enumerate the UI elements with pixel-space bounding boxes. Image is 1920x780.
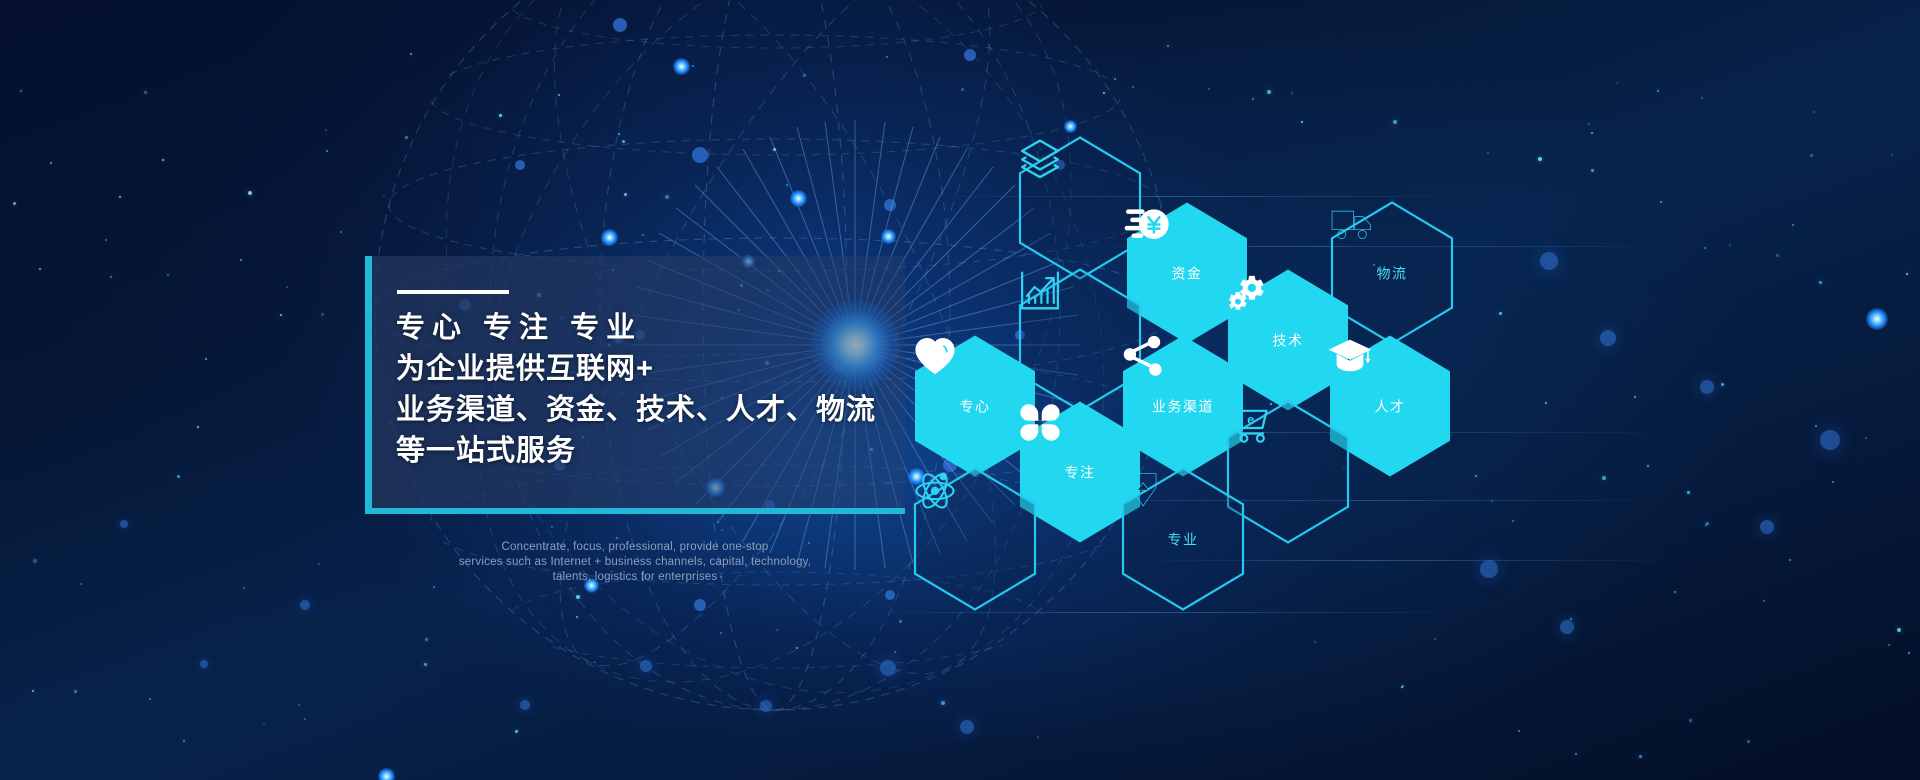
yen-money-icon xyxy=(1125,202,1169,246)
light-streak xyxy=(930,196,1470,197)
truck-icon xyxy=(1330,202,1374,246)
layers-icon xyxy=(1018,137,1062,181)
particle-dot xyxy=(961,88,964,91)
particle-dot xyxy=(280,314,282,316)
particle-dot xyxy=(692,65,694,67)
hex-label-dedication: 专注 xyxy=(1065,462,1096,482)
particle-dot xyxy=(1891,154,1893,156)
particle-dot xyxy=(240,259,242,261)
particle-orb xyxy=(1760,520,1774,534)
particle-dot xyxy=(803,74,806,77)
particle-dot xyxy=(1208,88,1210,90)
hex-label-focus: 专心 xyxy=(960,396,991,416)
banner-stage: 专心 专注 专业 为企业提供互联网+ 业务渠道、资金、技术、人才、物流 等一站式… xyxy=(0,0,1920,780)
particle-dot xyxy=(1674,591,1676,593)
particle-dot xyxy=(110,276,112,278)
particle-dot xyxy=(263,723,265,725)
headline-line-1: 专心 专注 专业 xyxy=(396,308,896,349)
particle-dot xyxy=(149,698,151,700)
particle-dot xyxy=(424,663,427,666)
particle-dot xyxy=(642,234,644,236)
particle-dot xyxy=(304,718,306,720)
particle-dot xyxy=(167,274,169,276)
particle-dot xyxy=(20,90,22,92)
particle-dot xyxy=(425,638,428,641)
particle-dot xyxy=(1591,132,1593,134)
particle-dot xyxy=(183,740,185,742)
particle-dot xyxy=(1706,522,1709,525)
particle-dot xyxy=(410,53,412,55)
cart-e-icon: e xyxy=(1226,401,1270,445)
glow-node xyxy=(881,229,896,244)
particle-dot xyxy=(13,202,16,205)
particle-dot xyxy=(1701,97,1703,99)
particle-dot xyxy=(796,647,798,649)
particle-dot xyxy=(1689,719,1692,722)
particle-dot xyxy=(1865,437,1867,439)
particle-dot xyxy=(33,559,37,563)
particle-dot xyxy=(1832,481,1834,483)
particle-dot xyxy=(622,140,625,143)
particle-dot xyxy=(616,537,618,539)
particle-dot xyxy=(1545,402,1547,404)
particle-orb xyxy=(1480,560,1498,578)
particle-dot xyxy=(1538,157,1542,161)
particle-dot xyxy=(515,730,518,733)
particle-dot xyxy=(1393,120,1397,124)
particle-orb xyxy=(960,720,974,734)
particle-dot xyxy=(1252,98,1254,100)
particle-dot xyxy=(383,195,385,197)
particle-orb xyxy=(1560,620,1574,634)
diamond-icon xyxy=(1121,468,1165,512)
particle-orb xyxy=(520,700,530,710)
svg-text:e: e xyxy=(1247,412,1254,427)
particle-orb xyxy=(880,660,896,676)
particle-dot xyxy=(558,94,560,96)
particle-dot xyxy=(405,136,408,139)
particle-dot xyxy=(162,159,164,161)
particle-dot xyxy=(1491,500,1493,502)
particle-dot xyxy=(74,690,77,693)
particle-orb xyxy=(300,600,310,610)
headline-panel: 专心 专注 专业 为企业提供互联网+ 业务渠道、资金、技术、人才、物流 等一站式… xyxy=(365,256,905,514)
particle-dot xyxy=(1301,121,1303,123)
particle-dot xyxy=(499,114,502,117)
headline-line-4: 等一站式服务 xyxy=(396,431,896,472)
particle-dot xyxy=(1897,628,1901,632)
particle-dot xyxy=(1776,254,1779,257)
particle-orb xyxy=(1600,330,1616,346)
particle-dot xyxy=(1167,45,1169,47)
particle-dot xyxy=(1475,475,1477,477)
particle-dot xyxy=(80,583,82,585)
particle-dot xyxy=(105,239,107,241)
particle-dot xyxy=(1906,273,1908,275)
particle-orb xyxy=(1540,252,1558,270)
particle-dot xyxy=(298,704,300,706)
particle-dot xyxy=(286,286,288,288)
light-streak xyxy=(860,612,1480,613)
particle-dot xyxy=(39,268,41,270)
glow-node xyxy=(673,58,690,75)
particle-dot xyxy=(576,595,580,599)
particle-orb xyxy=(640,660,652,672)
particle-dot xyxy=(776,629,778,631)
particle-dot xyxy=(50,162,52,164)
particle-dot xyxy=(1570,618,1572,620)
particle-dot xyxy=(1634,396,1636,398)
particle-dot xyxy=(197,426,199,428)
hex-tile-science[interactable] xyxy=(913,468,1037,611)
particle-dot xyxy=(941,701,945,705)
particle-dot xyxy=(1401,686,1403,688)
particle-dot xyxy=(894,651,896,653)
particle-dot xyxy=(1888,644,1890,646)
particle-dot xyxy=(1434,638,1436,640)
subtitle-line-2: services such as Internet + business cha… xyxy=(355,555,915,570)
heart-icon xyxy=(913,335,957,379)
particle-dot xyxy=(1602,476,1606,480)
hex-tile-layers[interactable] xyxy=(1018,137,1142,280)
hex-label-tech: 技术 xyxy=(1273,330,1304,350)
particle-dot xyxy=(433,586,435,588)
particle-dot xyxy=(1687,491,1690,494)
particle-dot xyxy=(318,563,320,565)
particle-dot xyxy=(665,195,669,199)
particle-dot xyxy=(248,191,252,195)
hex-content xyxy=(1018,137,1142,280)
hex-tile-pro[interactable]: 专业 xyxy=(1121,468,1245,611)
decorative-rule xyxy=(397,290,509,294)
particle-dot xyxy=(1575,753,1577,755)
particle-dot xyxy=(551,526,553,528)
particle-dot xyxy=(326,150,328,152)
particle-dot xyxy=(32,690,34,692)
share-nodes-icon xyxy=(1121,335,1165,379)
particle-dot xyxy=(1657,90,1659,92)
particle-dot xyxy=(1518,730,1520,732)
particle-dot xyxy=(1721,383,1724,386)
glow-node xyxy=(790,190,807,207)
particle-dot xyxy=(1792,224,1794,226)
particle-dot xyxy=(1499,312,1502,315)
particle-dot xyxy=(1813,111,1815,113)
particle-dot xyxy=(144,91,147,94)
particle-dot xyxy=(1591,169,1594,172)
particle-dot xyxy=(773,148,776,151)
hex-label-logistics: 物流 xyxy=(1377,263,1408,283)
atom-icon xyxy=(913,468,957,512)
particle-dot xyxy=(1789,559,1791,561)
glow-node xyxy=(601,229,618,246)
particle-dot xyxy=(717,521,719,523)
particle-dot xyxy=(1704,247,1706,249)
particle-dot xyxy=(1314,641,1316,643)
subtitle-line-3: talents, logistics for enterprises xyxy=(355,570,915,585)
particle-dot xyxy=(243,587,245,589)
particle-dot xyxy=(1487,152,1489,154)
particle-dot xyxy=(1114,78,1116,80)
particle-dot xyxy=(886,56,888,58)
particle-dot xyxy=(1291,92,1293,94)
hex-content: 专业 xyxy=(1121,468,1245,611)
clover-icon xyxy=(1018,401,1062,445)
particle-orb xyxy=(1700,380,1714,394)
particle-dot xyxy=(1103,92,1105,94)
hex-label-channels: 业务渠道 xyxy=(1152,396,1214,416)
particle-orb xyxy=(200,660,208,668)
particle-dot xyxy=(720,632,722,634)
particle-dot xyxy=(1815,425,1817,427)
particle-dot xyxy=(1037,736,1039,738)
hex-label-pro: 专业 xyxy=(1168,529,1199,549)
graduation-cap-icon xyxy=(1328,335,1372,379)
particle-dot xyxy=(1763,600,1765,602)
particle-dot xyxy=(1647,465,1649,467)
subtitle-line-1: Concentrate, focus, professional, provid… xyxy=(355,540,915,555)
particle-dot xyxy=(1588,123,1590,125)
hex-content xyxy=(913,468,1037,611)
glow-node xyxy=(1064,120,1077,133)
particle-dot xyxy=(1810,154,1813,157)
particle-orb xyxy=(1820,430,1840,450)
particle-dot xyxy=(1512,520,1514,522)
glow-node xyxy=(378,768,395,780)
particle-orb xyxy=(760,700,772,712)
particle-dot xyxy=(1639,755,1642,758)
particle-dot xyxy=(177,475,180,478)
particle-dot xyxy=(594,661,596,663)
subtitle-text: Concentrate, focus, professional, provid… xyxy=(355,540,915,585)
particle-dot xyxy=(624,193,627,196)
particle-dot xyxy=(1747,740,1750,743)
hex-label-talent: 人才 xyxy=(1375,396,1406,416)
particle-dot xyxy=(1819,281,1822,284)
particle-dot xyxy=(1729,244,1731,246)
particle-dot xyxy=(1267,90,1271,94)
particle-dot xyxy=(1132,86,1134,88)
particle-dot xyxy=(325,129,327,131)
headline-lines: 专心 专注 专业 为企业提供互联网+ 业务渠道、资金、技术、人才、物流 等一站式… xyxy=(396,308,896,472)
headline-line-3: 业务渠道、资金、技术、人才、物流 xyxy=(396,390,896,431)
particle-dot xyxy=(205,358,207,360)
glow-node xyxy=(1866,308,1888,330)
particle-dot xyxy=(119,196,121,198)
particle-dot xyxy=(618,133,620,135)
particle-dot xyxy=(340,231,342,233)
particle-dot xyxy=(1660,201,1662,203)
particle-dot xyxy=(899,620,902,623)
gears-icon xyxy=(1226,269,1270,313)
particle-dot xyxy=(721,529,723,531)
chart-growth-icon xyxy=(1018,269,1062,313)
particle-dot xyxy=(1908,652,1910,654)
particle-dot xyxy=(576,616,578,618)
hex-label-funds: 资金 xyxy=(1172,263,1203,283)
particle-dot xyxy=(786,184,788,186)
particle-dot xyxy=(1616,82,1618,84)
headline-line-2: 为企业提供互联网+ xyxy=(396,349,896,390)
particle-dot xyxy=(321,313,324,316)
particle-orb xyxy=(120,520,128,528)
